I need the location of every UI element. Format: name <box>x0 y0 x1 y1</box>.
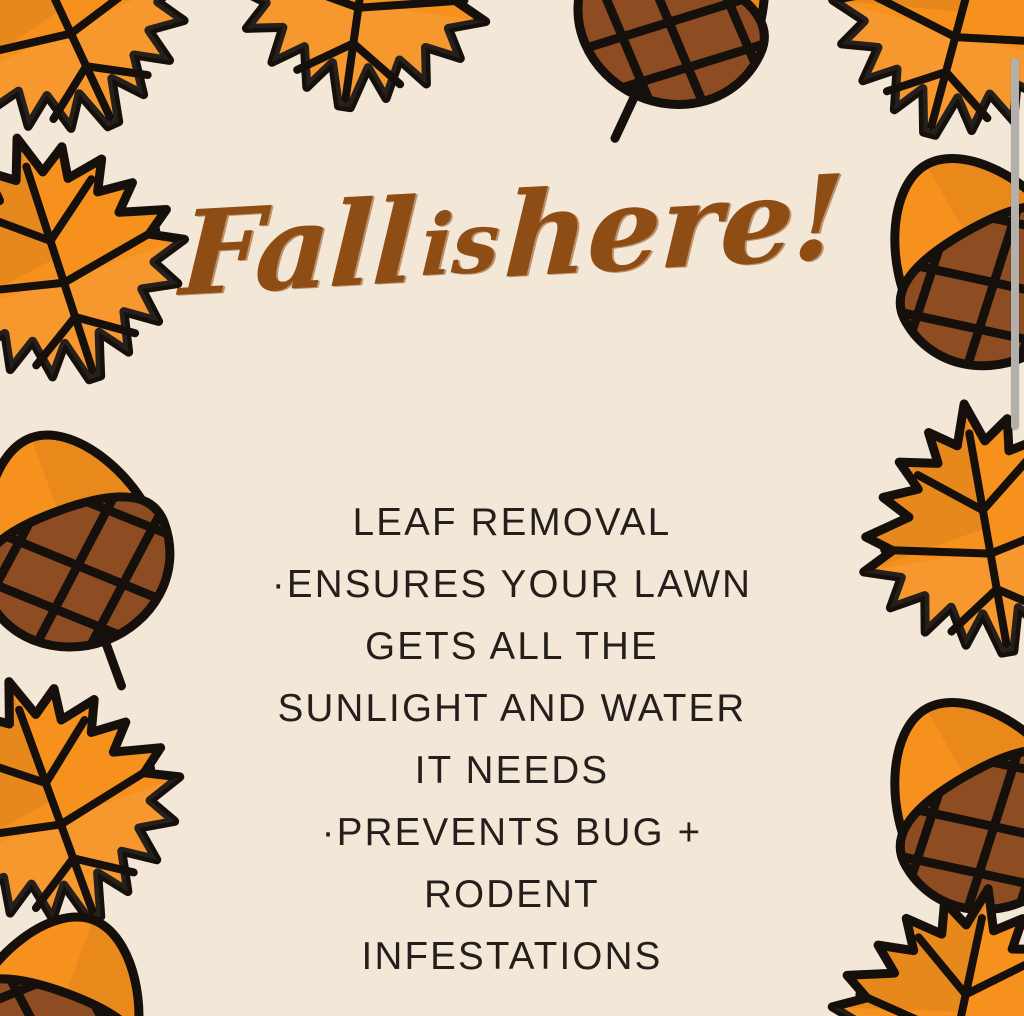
headline-container: Fallishere! <box>0 178 1024 294</box>
poster-content: Fallishere! LEAF REMOVAL ·ENSURES YOUR L… <box>0 0 1024 1016</box>
headline-word-here: here! <box>501 149 846 305</box>
page-title: Fallishere! <box>178 159 846 313</box>
copy-line: LEAF REMOVAL <box>202 492 822 554</box>
scrollbar-thumb[interactable] <box>1011 58 1019 430</box>
copy-line: ·ENSURES YOUR LAWN <box>202 554 822 616</box>
copy-line: ·PREVENTS BUG + <box>202 802 822 864</box>
copy-line: RODENT <box>202 864 822 926</box>
poster-canvas: Fallishere! LEAF REMOVAL ·ENSURES YOUR L… <box>0 0 1024 1016</box>
benefits-copy: LEAF REMOVAL ·ENSURES YOUR LAWN GETS ALL… <box>202 492 822 988</box>
headline-word-fall: Fall <box>177 173 419 323</box>
copy-line: IT NEEDS <box>202 740 822 802</box>
headline-word-is: is <box>419 192 501 296</box>
copy-line: SUNLIGHT AND WATER <box>202 678 822 740</box>
copy-line: GETS ALL THE <box>202 616 822 678</box>
copy-line: INFESTATIONS <box>202 926 822 988</box>
